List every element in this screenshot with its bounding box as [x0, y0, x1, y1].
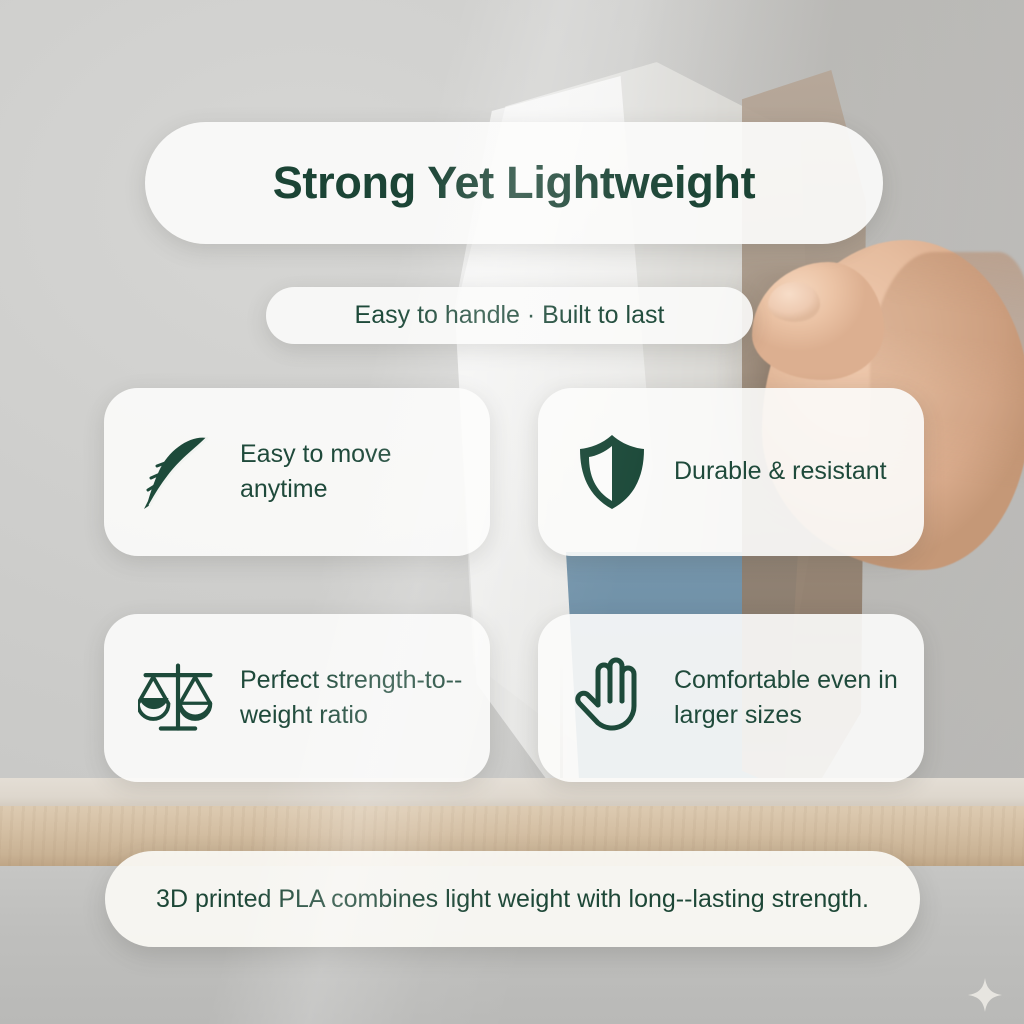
footer-text: 3D printed PLA combines light weight wit… [156, 882, 869, 917]
hand-thumbnail [768, 282, 820, 322]
footer-pill: 3D printed PLA combines light weight wit… [105, 851, 920, 947]
feature-label: Easy to move anytime [240, 437, 468, 508]
sparkle-icon [968, 978, 1002, 1012]
balance-scale-icon [138, 656, 218, 740]
feature-card-strength-to-weight[interactable]: Perfect strength-to--weight ratio [104, 614, 490, 782]
poster-canvas: Strong Yet Lightweight Easy to handle · … [0, 0, 1024, 1024]
feature-card-comfortable[interactable]: Comfortable even in larger sizes [538, 614, 924, 782]
page-subtitle: Easy to handle · Built to last [355, 301, 665, 330]
feature-card-easy-to-move[interactable]: Easy to move anytime [104, 388, 490, 556]
hand-palm-icon [572, 656, 652, 740]
feature-label: Perfect strength-to--weight ratio [240, 663, 468, 734]
feature-card-durable[interactable]: Durable & resistant [538, 388, 924, 556]
feature-label: Comfortable even in larger sizes [674, 663, 902, 734]
title-pill: Strong Yet Lightweight [145, 122, 883, 244]
feather-icon [138, 430, 218, 514]
page-title: Strong Yet Lightweight [273, 157, 756, 209]
feature-label: Durable & resistant [674, 454, 887, 490]
shield-icon [572, 430, 652, 514]
subtitle-pill: Easy to handle · Built to last [266, 287, 753, 344]
